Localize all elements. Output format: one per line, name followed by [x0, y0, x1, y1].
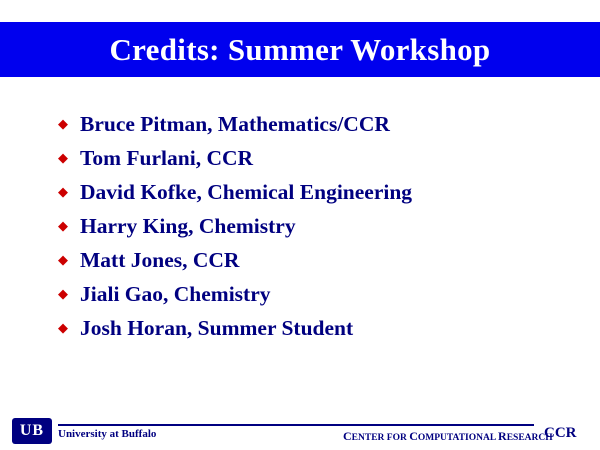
list-item: ◆ Matt Jones, CCR: [58, 243, 578, 277]
bullet-list: ◆ Bruce Pitman, Mathematics/CCR ◆ Tom Fu…: [58, 107, 578, 345]
list-item-label: Harry King, Chemistry: [80, 209, 296, 243]
ub-logo: UB: [12, 418, 52, 444]
footer-ccr-label: CCR: [544, 425, 577, 442]
list-item: ◆ Jiali Gao, Chemistry: [58, 277, 578, 311]
logo-label: UB: [12, 418, 52, 444]
footer-center-c3: R: [498, 429, 507, 443]
footer-center-t2: OMPUTATIONAL: [418, 433, 498, 443]
diamond-bullet-icon: ◆: [58, 175, 80, 209]
list-item-label: Matt Jones, CCR: [80, 243, 239, 277]
footer-divider: [58, 424, 534, 426]
footer-center-t1: ENTER FOR: [352, 433, 410, 443]
list-item: ◆ David Kofke, Chemical Engineering: [58, 175, 578, 209]
list-item: ◆ Josh Horan, Summer Student: [58, 311, 578, 345]
footer-center-label: CENTER FOR COMPUTATIONAL RESEARCH: [343, 429, 553, 444]
list-item: ◆ Harry King, Chemistry: [58, 209, 578, 243]
list-item-label: Tom Furlani, CCR: [80, 141, 253, 175]
list-item: ◆ Tom Furlani, CCR: [58, 141, 578, 175]
list-item-label: Bruce Pitman, Mathematics/CCR: [80, 107, 390, 141]
slide: Credits: Summer Workshop ◆ Bruce Pitman,…: [0, 0, 600, 450]
diamond-bullet-icon: ◆: [58, 141, 80, 175]
list-item: ◆ Bruce Pitman, Mathematics/CCR: [58, 107, 578, 141]
diamond-bullet-icon: ◆: [58, 243, 80, 277]
diamond-bullet-icon: ◆: [58, 311, 80, 345]
diamond-bullet-icon: ◆: [58, 277, 80, 311]
diamond-bullet-icon: ◆: [58, 107, 80, 141]
footer-university-label: University at Buffalo: [58, 428, 156, 440]
list-item-label: Jiali Gao, Chemistry: [80, 277, 271, 311]
footer-center-c2: C: [409, 429, 418, 443]
page-title: Credits: Summer Workshop: [0, 22, 600, 77]
footer-center-c1: C: [343, 429, 352, 443]
list-item-label: Josh Horan, Summer Student: [80, 311, 353, 345]
list-item-label: David Kofke, Chemical Engineering: [80, 175, 412, 209]
diamond-bullet-icon: ◆: [58, 209, 80, 243]
